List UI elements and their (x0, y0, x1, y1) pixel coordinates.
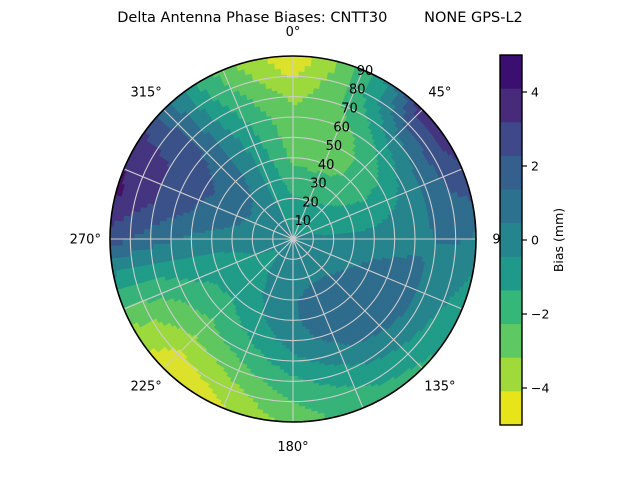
contour-cell (436, 239, 439, 244)
contour-cell (396, 243, 399, 247)
contour-cell (424, 234, 427, 239)
contour-cell (458, 239, 461, 245)
contour-cell (293, 99, 298, 102)
contour-cell (406, 239, 409, 243)
contour-cell (427, 239, 430, 244)
contour-cell (297, 129, 301, 132)
contour-cell (442, 239, 445, 244)
contour-cell (378, 233, 381, 236)
contour-cell (403, 239, 406, 243)
contour-cell (293, 59, 299, 62)
contour-cell (464, 233, 467, 239)
contour-cell (421, 234, 424, 239)
contour-cell (297, 111, 302, 114)
contour-cell (293, 123, 297, 126)
contour-cell (397, 235, 400, 239)
figure-canvas: Delta Antenna Phase Biases: CNTT30 NONE … (0, 0, 640, 480)
contour-cell (396, 232, 399, 236)
contour-cell (464, 239, 467, 245)
contour-cell (427, 234, 430, 239)
contour-cell (403, 235, 406, 239)
contour-cell (387, 242, 390, 246)
contour-cell (293, 108, 298, 111)
contour-cell (293, 80, 299, 83)
contour-cell (296, 148, 299, 151)
contour-cell (381, 233, 384, 236)
contour-cell (403, 231, 406, 235)
contour-cell (439, 234, 442, 239)
contour-cell (439, 239, 442, 244)
contour-cell (430, 234, 433, 239)
contour-cell (418, 230, 421, 235)
contour-cell (430, 239, 433, 244)
contour-cell (399, 231, 402, 235)
contour-cell (399, 243, 402, 247)
contour-cell (418, 235, 421, 239)
contour-cell (436, 234, 439, 239)
contour-cell (445, 239, 448, 244)
contour-cell (409, 243, 412, 247)
contour-cell (375, 233, 378, 236)
contour-cell (448, 239, 451, 245)
contour-cell (467, 233, 470, 239)
contour-cell (293, 102, 298, 105)
contour-cell (297, 132, 301, 135)
contour-cell (296, 138, 300, 141)
contour-cell (397, 239, 400, 243)
contour-cell (293, 93, 298, 96)
contour-cell (390, 242, 393, 246)
contour-cell (424, 239, 427, 244)
contour-cell (442, 234, 445, 239)
contour-cell (467, 239, 470, 245)
contour-cell (293, 65, 299, 68)
contour-cell (293, 126, 297, 129)
contour-cell (418, 243, 421, 248)
contour-cell (458, 233, 461, 239)
contour-cell (293, 62, 299, 65)
contour-cell (366, 234, 369, 237)
contour-cell (293, 90, 298, 93)
contour-cell (297, 123, 301, 126)
contour-cell (470, 239, 473, 245)
contour-cell (293, 120, 297, 123)
contour-cell (406, 235, 409, 239)
contour-cell (461, 239, 464, 245)
contour-cell (293, 77, 299, 80)
contour-cell (293, 111, 297, 114)
contour-cell (297, 126, 301, 129)
contour-cell (418, 239, 421, 243)
contour-cell (363, 234, 366, 237)
contour-cell (381, 242, 384, 245)
contour-cell (293, 132, 297, 135)
contour-cell (448, 233, 451, 239)
contour-cell (390, 232, 393, 236)
contour-cell (452, 239, 455, 245)
contour-cell (293, 68, 299, 71)
contour-cell (421, 239, 424, 244)
contour-cell (387, 232, 390, 236)
contour-cell (409, 231, 412, 235)
figure-title: Delta Antenna Phase Biases: CNTT30 NONE … (0, 10, 640, 26)
contour-cell (293, 105, 298, 108)
contour-cell (409, 239, 412, 243)
contour-cell (384, 232, 387, 235)
contour-cell (297, 120, 301, 123)
contour-cell (406, 231, 409, 235)
polar-contour-plot: 0°45°90135°180°225°270°315° 102030405060… (0, 0, 640, 480)
contour-cell (293, 129, 297, 132)
contour-cell (452, 233, 455, 239)
contour-cell (409, 235, 412, 239)
contour-cell (461, 233, 464, 239)
contour-cell (293, 71, 299, 74)
contour-cell (369, 233, 372, 236)
contour-cell (400, 239, 403, 243)
contour-cell (293, 87, 298, 90)
contour-cell (403, 243, 406, 247)
contour-cell (293, 83, 298, 86)
contour-cell (296, 145, 299, 148)
contour-cell (400, 235, 403, 239)
contour-cell (406, 243, 409, 247)
contour-cell (296, 141, 300, 144)
contour-cell (384, 242, 387, 245)
contour-cell (445, 234, 448, 239)
contour-cell (470, 233, 473, 239)
